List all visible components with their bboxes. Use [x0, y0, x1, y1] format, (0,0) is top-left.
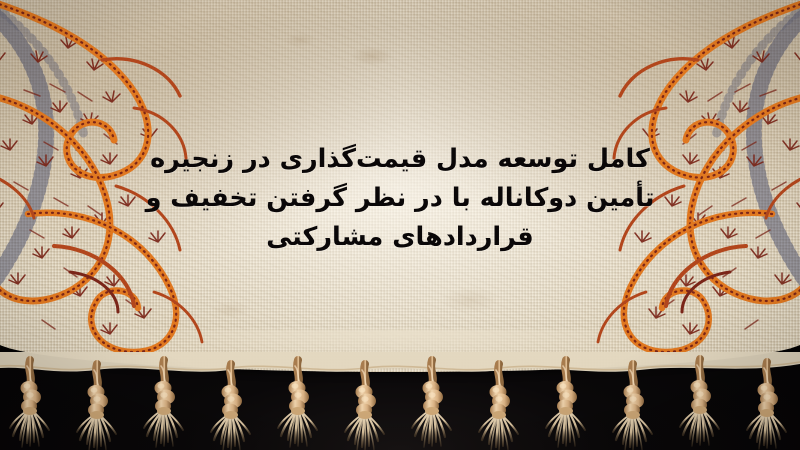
- title-line-1: کامل توسعه مدل قیمت‌گذاری در زنجیره: [120, 140, 680, 179]
- title-line-2: تأمین دوکاناله با در نظر گرفتن تخفیف و: [120, 179, 680, 218]
- title-line-3: قراردادهای مشارکتی: [120, 218, 680, 257]
- slide-canvas: کامل توسعه مدل قیمت‌گذاری در زنجیره تأمی…: [0, 0, 800, 450]
- slide-title: کامل توسعه مدل قیمت‌گذاری در زنجیره تأمی…: [120, 140, 680, 257]
